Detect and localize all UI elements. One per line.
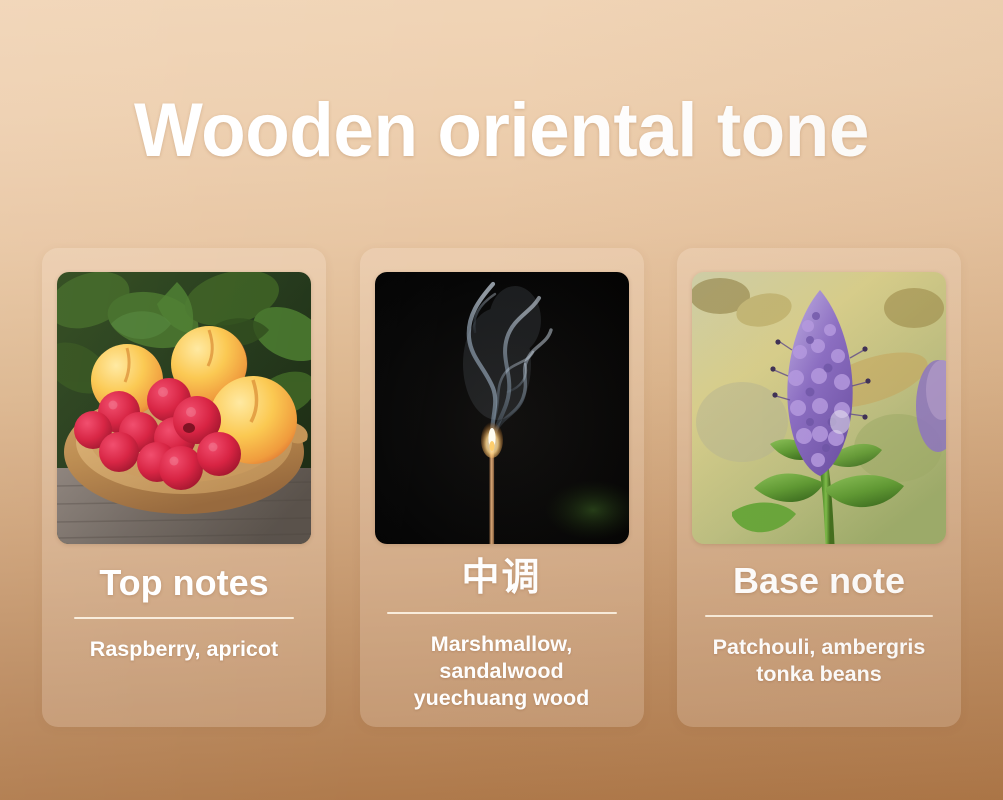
card-divider — [705, 615, 933, 617]
card-body-text: Marshmallow, sandalwood yuechuang wood — [410, 631, 594, 712]
poster-canvas: Wooden oriental tone — [0, 0, 1003, 800]
card-body-line: Patchouli, ambergris — [713, 634, 926, 661]
card-body-line: tonka beans — [713, 661, 926, 688]
incense-smoke-photo — [375, 272, 629, 544]
card-body-text: Patchouli, ambergris tonka beans — [709, 634, 930, 688]
card-body-line: Marshmallow, — [414, 631, 590, 658]
card-heading: 中调 — [461, 557, 541, 599]
card-body-line: sandalwood — [414, 658, 590, 685]
card-body-text: Raspberry, apricot — [86, 636, 282, 663]
page-title: Wooden oriental tone — [20, 88, 983, 174]
card-middle-notes[interactable]: 中调 Marshmallow, sandalwood yuechuang woo… — [360, 248, 644, 727]
card-top-notes[interactable]: Top notes Raspberry, apricot — [42, 248, 326, 727]
card-divider — [387, 612, 617, 614]
patchouli-flower-photo — [692, 272, 946, 544]
card-heading: Base note — [733, 560, 905, 602]
card-body-line: yuechuang wood — [414, 685, 590, 712]
card-heading: Top notes — [99, 562, 268, 604]
fragrance-notes-card-row: Top notes Raspberry, apricot — [42, 248, 961, 727]
card-base-note[interactable]: Base note Patchouli, ambergris tonka bea… — [677, 248, 961, 727]
card-divider — [74, 617, 294, 619]
raspberries-and-apricots-photo — [57, 272, 311, 544]
